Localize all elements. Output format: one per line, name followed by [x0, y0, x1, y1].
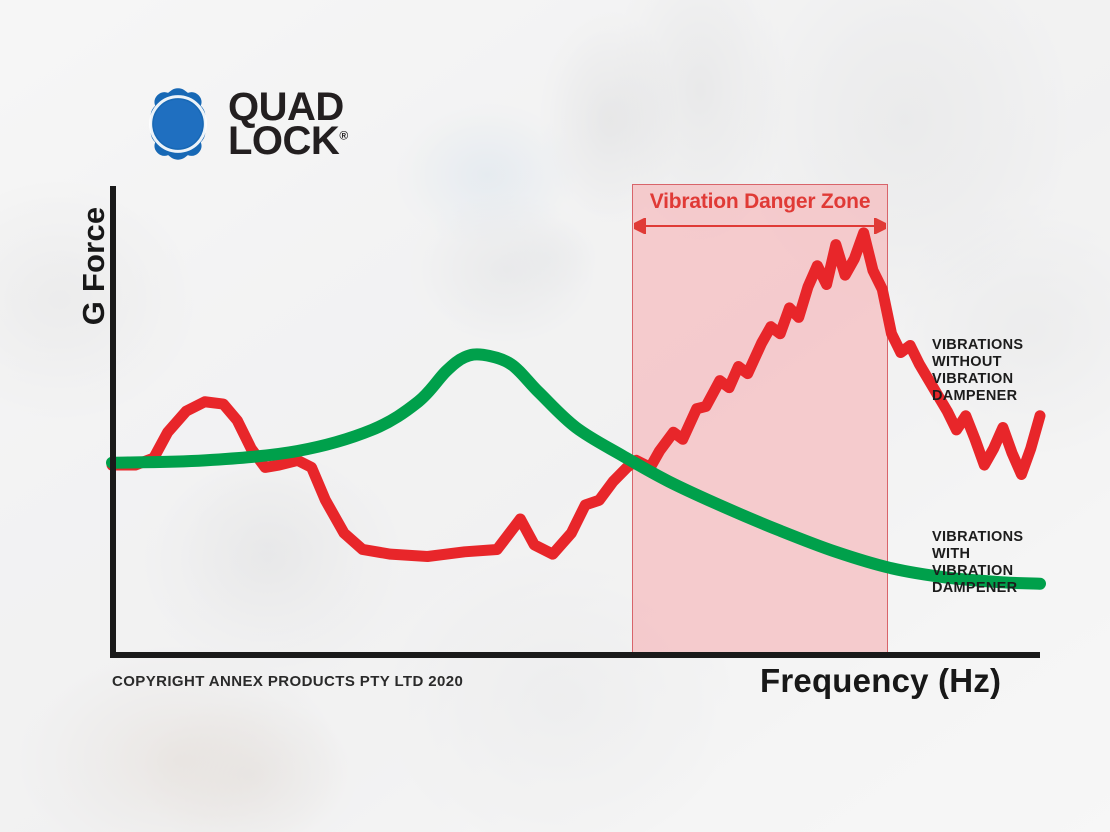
annotation-line: DAMPENER [932, 580, 1023, 597]
annotation-line: WITHOUT [932, 354, 1023, 371]
curve-vibrations-with-dampener [112, 354, 1040, 583]
annotation-line: VIBRATIONS [932, 337, 1023, 354]
annotation-vibrations-without-dampener: VIBRATIONS WITHOUT VIBRATION DAMPENER [932, 337, 1023, 405]
vibration-chart: Vibration Danger Zone G Force Frequency … [0, 0, 1110, 832]
x-axis-line [110, 652, 1040, 658]
annotation-line: WITH [932, 546, 1023, 563]
series-curves [0, 0, 1110, 832]
x-axis-label: Frequency (Hz) [760, 662, 1001, 700]
annotation-line: DAMPENER [932, 388, 1023, 405]
annotation-line: VIBRATIONS [932, 529, 1023, 546]
annotation-vibrations-with-dampener: VIBRATIONS WITH VIBRATION DAMPENER [932, 529, 1023, 597]
chart-canvas: QUAD LOCK® Vibration Danger Zone G [0, 0, 1110, 832]
copyright-notice: COPYRIGHT ANNEX PRODUCTS PTY LTD 2020 [112, 673, 463, 690]
y-axis-label: G Force [76, 166, 112, 366]
annotation-line: VIBRATION [932, 371, 1023, 388]
annotation-line: VIBRATION [932, 563, 1023, 580]
curve-vibrations-without-dampener [112, 233, 1040, 557]
